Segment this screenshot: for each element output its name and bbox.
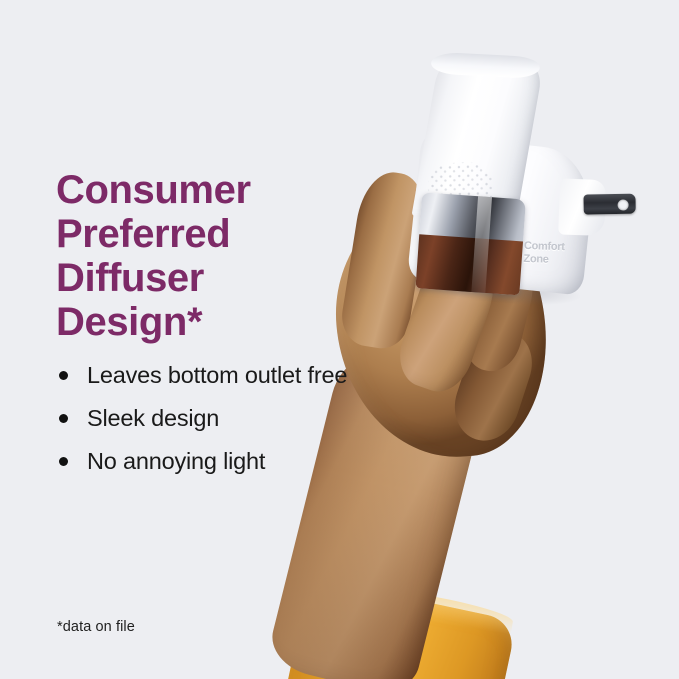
- list-item: Sleek design: [56, 405, 386, 432]
- headline-line-1: Consumer: [56, 168, 376, 212]
- benefit-text: Sleek design: [87, 405, 386, 432]
- headline-line-2: Preferred: [56, 212, 376, 256]
- benefit-text: Leaves bottom outlet free: [87, 362, 386, 389]
- brand-logo-embossed: Comfort Zone: [523, 240, 594, 280]
- plug-in-diffuser: Comfort Zone: [391, 49, 676, 325]
- benefit-text: No annoying light: [87, 448, 386, 475]
- bullet-dot-icon: [59, 457, 68, 466]
- headline: Consumer Preferred Diffuser Design*: [56, 168, 376, 344]
- list-item: Leaves bottom outlet free: [56, 362, 386, 389]
- refill-liquid: [415, 234, 522, 295]
- footnote: *data on file: [57, 619, 135, 635]
- refill-bottle: [415, 192, 525, 295]
- headline-line-3: Diffuser: [56, 256, 376, 300]
- bullet-dot-icon: [59, 371, 68, 380]
- bullet-dot-icon: [59, 414, 68, 423]
- headline-line-4: Design*: [56, 300, 376, 344]
- benefit-list: Leaves bottom outlet free Sleek design N…: [56, 362, 386, 491]
- brand-line-2: Zone: [523, 252, 593, 267]
- promo-image-canvas: Comfort Zone Consumer Preferred Diffuser…: [0, 0, 679, 679]
- list-item: No annoying light: [56, 448, 386, 475]
